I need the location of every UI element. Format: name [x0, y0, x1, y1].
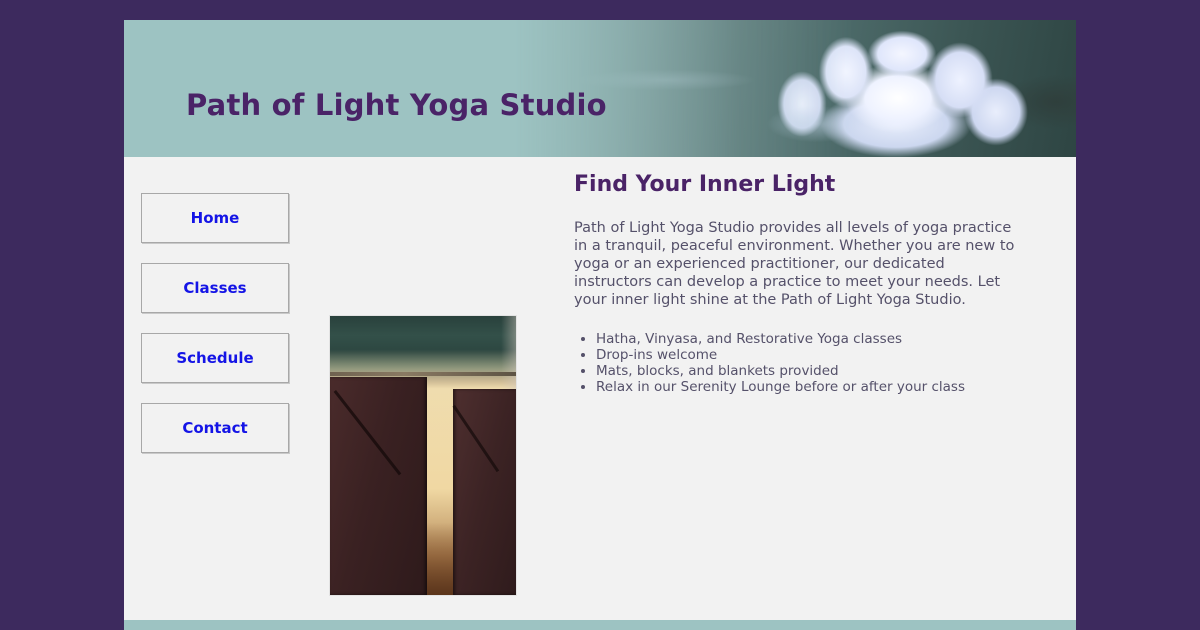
body-area: Home Classes Schedule Contact 612 Sereni…	[124, 157, 1076, 630]
main-navigation: Home Classes Schedule Contact	[141, 193, 291, 473]
barn-door-left	[330, 377, 427, 595]
list-item: Mats, blocks, and blankets provided	[596, 363, 1024, 379]
site-footer	[124, 620, 1076, 630]
nav-item-schedule[interactable]: Schedule	[141, 333, 289, 383]
intro-paragraph: Path of Light Yoga Studio provides all l…	[574, 219, 1024, 309]
nav-item-classes[interactable]: Classes	[141, 263, 289, 313]
nav-item-home[interactable]: Home	[141, 193, 289, 243]
site-header: Path of Light Yoga Studio	[124, 20, 1076, 157]
list-item: Hatha, Vinyasa, and Restorative Yoga cla…	[596, 331, 1024, 347]
barn-door-rail	[330, 372, 516, 376]
site-title: Path of Light Yoga Studio	[186, 88, 607, 122]
page-container: Path of Light Yoga Studio Home Classes S…	[124, 20, 1076, 630]
feature-list: Hatha, Vinyasa, and Restorative Yoga cla…	[574, 331, 1024, 395]
list-item: Drop-ins welcome	[596, 347, 1024, 363]
page-heading: Find Your Inner Light	[574, 172, 1024, 197]
studio-interior-photo	[329, 315, 517, 596]
main-content: Find Your Inner Light Path of Light Yoga…	[574, 172, 1024, 395]
list-item: Relax in our Serenity Lounge before or a…	[596, 379, 1024, 395]
barn-door-right	[453, 389, 516, 595]
nav-item-contact[interactable]: Contact	[141, 403, 289, 453]
